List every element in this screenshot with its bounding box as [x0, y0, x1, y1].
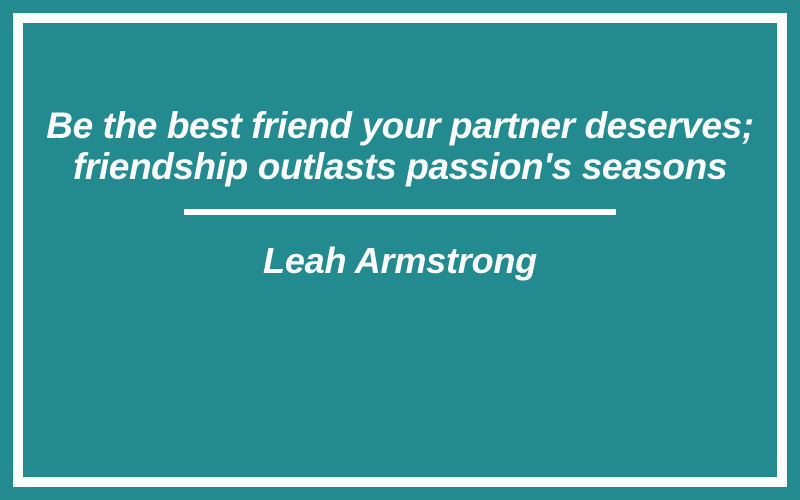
- divider: [184, 209, 616, 215]
- quote-author: Leah Armstrong: [263, 241, 537, 281]
- card-white-frame: Be the best friend your partner deserves…: [13, 13, 787, 487]
- quote-text: Be the best friend your partner deserves…: [40, 105, 760, 187]
- card-inner-panel: Be the best friend your partner deserves…: [23, 23, 777, 477]
- quote-content: Be the best friend your partner deserves…: [23, 105, 777, 281]
- quote-card: Be the best friend your partner deserves…: [0, 0, 800, 500]
